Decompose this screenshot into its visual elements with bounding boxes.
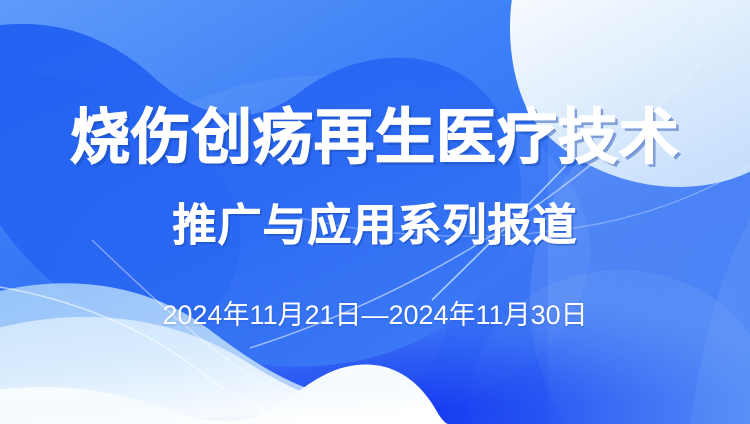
banner-text-layer: 烧伤创疡再生医疗技术 推广与应用系列报道 2024年11月21日—2024年11… <box>0 0 750 424</box>
banner-sub-title: 推广与应用系列报道 <box>0 199 750 253</box>
banner-main-title: 烧伤创疡再生医疗技术 <box>0 104 750 172</box>
promo-banner: 烧伤创疡再生医疗技术 推广与应用系列报道 2024年11月21日—2024年11… <box>0 0 750 424</box>
banner-date-range: 2024年11月21日—2024年11月30日 <box>0 298 750 332</box>
